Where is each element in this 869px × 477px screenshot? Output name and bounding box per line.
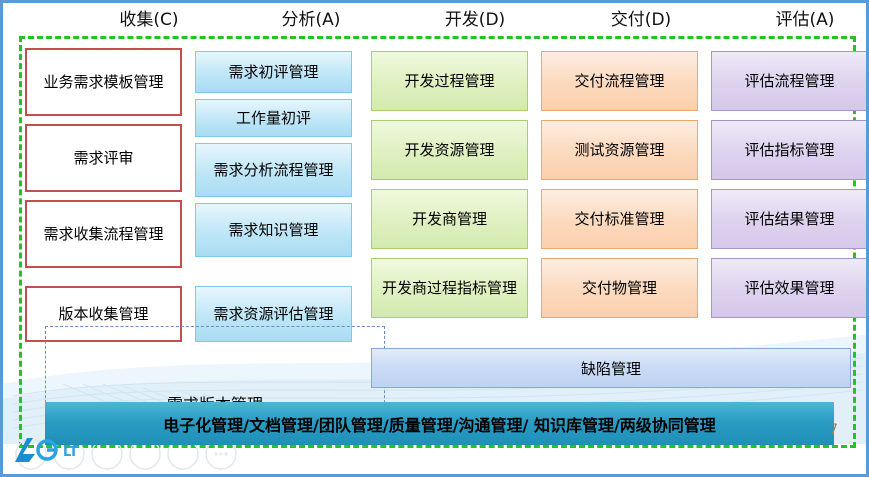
- foundation-services-bar[interactable]: 电子化管理/文档管理/团队管理/质量管理/沟通管理/ 知识库管理/两级协同管理: [45, 402, 834, 445]
- cell-develop-1-label: 开发资源管理: [404, 141, 494, 160]
- cell-analyze-1[interactable]: 工作量初评: [195, 99, 352, 137]
- column-header-deliver: 交付(D): [561, 7, 721, 33]
- cell-develop-3[interactable]: 开发商过程指标管理: [371, 258, 528, 318]
- cell-develop-2[interactable]: 开发商管理: [371, 189, 528, 249]
- brand-logo: LT: [11, 434, 141, 468]
- cell-develop-3-label: 开发商过程指标管理: [382, 279, 517, 298]
- cell-assess-1-label: 评估指标管理: [744, 141, 834, 160]
- cell-assess-3[interactable]: 评估效果管理: [711, 258, 868, 318]
- cell-deliver-0-label: 交付流程管理: [574, 72, 664, 91]
- cell-assess-3-label: 评估效果管理: [744, 279, 834, 298]
- cell-collect-1[interactable]: 需求评审: [25, 124, 182, 192]
- cell-analyze-2[interactable]: 需求分析流程管理: [195, 143, 352, 197]
- foundation-services-label: 电子化管理/文档管理/团队管理/质量管理/沟通管理/ 知识库管理/两级协同管理: [163, 412, 716, 436]
- cell-develop-1[interactable]: 开发资源管理: [371, 120, 528, 180]
- column-header-analyze: 分析(A): [231, 7, 391, 33]
- cell-analyze-3-label: 需求知识管理: [228, 221, 318, 240]
- cell-assess-1[interactable]: 评估指标管理: [711, 120, 868, 180]
- page-number: 7: [829, 422, 838, 438]
- column-header-analyze-label: 分析(A): [282, 10, 341, 30]
- cell-deliver-1[interactable]: 测试资源管理: [541, 120, 698, 180]
- capability-grid: 需求版本管理 业务需求模板管理 需求评审 需求收集流程管理 版本收集管理 需求初…: [25, 48, 851, 388]
- cell-deliver-2[interactable]: 交付标准管理: [541, 189, 698, 249]
- cell-collect-3-label: 版本收集管理: [58, 305, 148, 324]
- cell-analyze-4-label: 需求资源评估管理: [213, 305, 333, 324]
- cell-deliver-3[interactable]: 交付物管理: [541, 258, 698, 318]
- defect-management-bar[interactable]: 缺陷管理: [371, 348, 851, 388]
- cell-analyze-2-label: 需求分析流程管理: [213, 161, 333, 180]
- cell-assess-2-label: 评估结果管理: [744, 210, 834, 229]
- cell-develop-0[interactable]: 开发过程管理: [371, 51, 528, 111]
- defect-management-label: 缺陷管理: [581, 358, 641, 379]
- column-header-develop: 开发(D): [395, 7, 555, 33]
- column-headers: 收集(C) 分析(A) 开发(D) 交付(D) 评估(A): [3, 7, 869, 37]
- cell-analyze-1-label: 工作量初评: [236, 109, 311, 128]
- cell-assess-0-label: 评估流程管理: [744, 72, 834, 91]
- cell-analyze-3[interactable]: 需求知识管理: [195, 203, 352, 257]
- cell-deliver-2-label: 交付标准管理: [574, 210, 664, 229]
- cell-collect-2-label: 需求收集流程管理: [43, 225, 163, 244]
- column-header-deliver-label: 交付(D): [611, 10, 671, 30]
- cell-deliver-0[interactable]: 交付流程管理: [541, 51, 698, 111]
- cell-develop-0-label: 开发过程管理: [404, 72, 494, 91]
- column-header-collect: 收集(C): [69, 7, 229, 33]
- cell-analyze-0-label: 需求初评管理: [228, 63, 318, 82]
- cell-assess-2[interactable]: 评估结果管理: [711, 189, 868, 249]
- cell-collect-0[interactable]: 业务需求模板管理: [25, 48, 182, 116]
- cell-analyze-0[interactable]: 需求初评管理: [195, 51, 352, 93]
- column-header-assess-label: 评估(A): [776, 10, 835, 30]
- cell-collect-2[interactable]: 需求收集流程管理: [25, 200, 182, 268]
- cell-develop-2-label: 开发商管理: [412, 210, 487, 229]
- cell-collect-0-label: 业务需求模板管理: [43, 73, 163, 92]
- cell-assess-0[interactable]: 评估流程管理: [711, 51, 868, 111]
- cell-deliver-3-label: 交付物管理: [582, 279, 657, 298]
- column-header-assess: 评估(A): [725, 7, 869, 33]
- svg-text:LT: LT: [63, 445, 78, 460]
- column-header-collect-label: 收集(C): [119, 10, 178, 30]
- column-header-develop-label: 开发(D): [445, 10, 505, 30]
- slide-canvas: 收集(C) 分析(A) 开发(D) 交付(D) 评估(A) 需求版本管理 业务需…: [0, 0, 869, 477]
- cell-collect-1-label: 需求评审: [73, 149, 133, 168]
- cell-deliver-1-label: 测试资源管理: [574, 141, 664, 160]
